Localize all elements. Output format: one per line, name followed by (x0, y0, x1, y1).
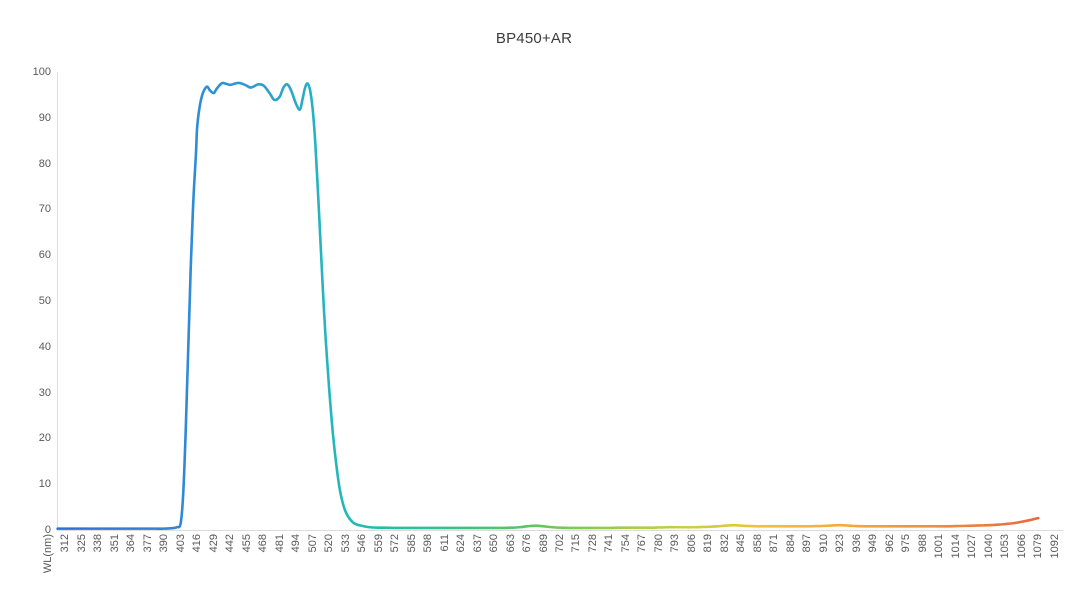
y-tick-label: 30 (11, 387, 51, 399)
x-tick-label: 806 (686, 534, 698, 552)
x-tick-label: 650 (488, 534, 500, 552)
x-tick-label: 819 (702, 534, 714, 552)
x-axis-line (57, 530, 1063, 531)
x-tick-label: 585 (406, 534, 418, 552)
x-tick-label: 975 (900, 534, 912, 552)
x-tick-label: 312 (59, 534, 71, 552)
x-tick-label: 767 (636, 534, 648, 552)
x-tick-label: 624 (455, 534, 467, 552)
plot-area (57, 72, 1063, 530)
x-tick-label: 962 (884, 534, 896, 552)
transmittance-curve (58, 83, 1039, 529)
spectrum-line-series (57, 72, 1063, 530)
x-tick-label: 364 (125, 534, 137, 552)
y-tick-label: 90 (11, 112, 51, 124)
y-tick-label: 80 (11, 158, 51, 170)
x-tick-label: 845 (735, 534, 747, 552)
x-tick-label: 832 (719, 534, 731, 552)
x-tick-label: 1066 (1016, 534, 1028, 558)
x-tick-label: 416 (191, 534, 203, 552)
x-tick-label: 793 (669, 534, 681, 552)
x-tick-label: 741 (603, 534, 615, 552)
y-tick-label: 70 (11, 203, 51, 215)
x-tick-label: 1092 (1049, 534, 1061, 558)
x-tick-label: 338 (92, 534, 104, 552)
x-tick-label: 780 (653, 534, 665, 552)
chart-title: BP450+AR (0, 30, 1068, 47)
y-tick-label: 40 (11, 341, 51, 353)
x-tick-label: 520 (323, 534, 335, 552)
x-tick-label: 923 (834, 534, 846, 552)
x-tick-label: 988 (917, 534, 929, 552)
y-tick-label: 20 (11, 432, 51, 444)
x-axis-title: WL(nm) (42, 534, 54, 573)
x-tick-label: 754 (620, 534, 632, 552)
x-tick-label: 858 (752, 534, 764, 552)
x-tick-label: 546 (356, 534, 368, 552)
x-tick-label: 468 (257, 534, 269, 552)
x-tick-label: 481 (274, 534, 286, 552)
x-tick-label: 949 (867, 534, 879, 552)
y-tick-label: 10 (11, 478, 51, 490)
x-tick-label: 351 (109, 534, 121, 552)
x-tick-label: 884 (785, 534, 797, 552)
x-tick-label: 1053 (999, 534, 1011, 558)
x-tick-label: 1027 (966, 534, 978, 558)
y-axis-tick-labels: 0102030405060708090100 (0, 72, 51, 530)
x-tick-label: 1040 (983, 534, 995, 558)
x-tick-label: 325 (76, 534, 88, 552)
spectral-transmission-chart: BP450+AR 0102030405060708090100 WL(nm) 3… (0, 0, 1068, 606)
x-tick-label: 715 (570, 534, 582, 552)
x-tick-label: 559 (373, 534, 385, 552)
x-tick-label: 533 (340, 534, 352, 552)
x-tick-label: 494 (290, 534, 302, 552)
x-tick-label: 702 (554, 534, 566, 552)
x-tick-label: 936 (851, 534, 863, 552)
x-tick-label: 455 (241, 534, 253, 552)
x-tick-label: 637 (472, 534, 484, 552)
y-tick-label: 100 (11, 66, 51, 78)
x-tick-label: 598 (422, 534, 434, 552)
y-tick-label: 60 (11, 249, 51, 261)
x-tick-label: 390 (158, 534, 170, 552)
x-tick-label: 910 (818, 534, 830, 552)
x-tick-label: 442 (224, 534, 236, 552)
x-axis-tick-labels: 3123253383513643773904034164294424554684… (57, 534, 1063, 604)
x-tick-label: 663 (505, 534, 517, 552)
x-tick-label: 871 (768, 534, 780, 552)
x-tick-label: 429 (208, 534, 220, 552)
x-tick-label: 728 (587, 534, 599, 552)
x-tick-label: 1001 (933, 534, 945, 558)
x-tick-label: 676 (521, 534, 533, 552)
y-tick-label: 50 (11, 295, 51, 307)
x-tick-label: 403 (175, 534, 187, 552)
x-tick-label: 689 (538, 534, 550, 552)
x-tick-label: 377 (142, 534, 154, 552)
x-tick-label: 507 (307, 534, 319, 552)
x-tick-label: 897 (801, 534, 813, 552)
x-tick-label: 1014 (950, 534, 962, 558)
x-tick-label: 1079 (1032, 534, 1044, 558)
x-tick-label: 611 (439, 534, 451, 552)
x-tick-label: 572 (389, 534, 401, 552)
